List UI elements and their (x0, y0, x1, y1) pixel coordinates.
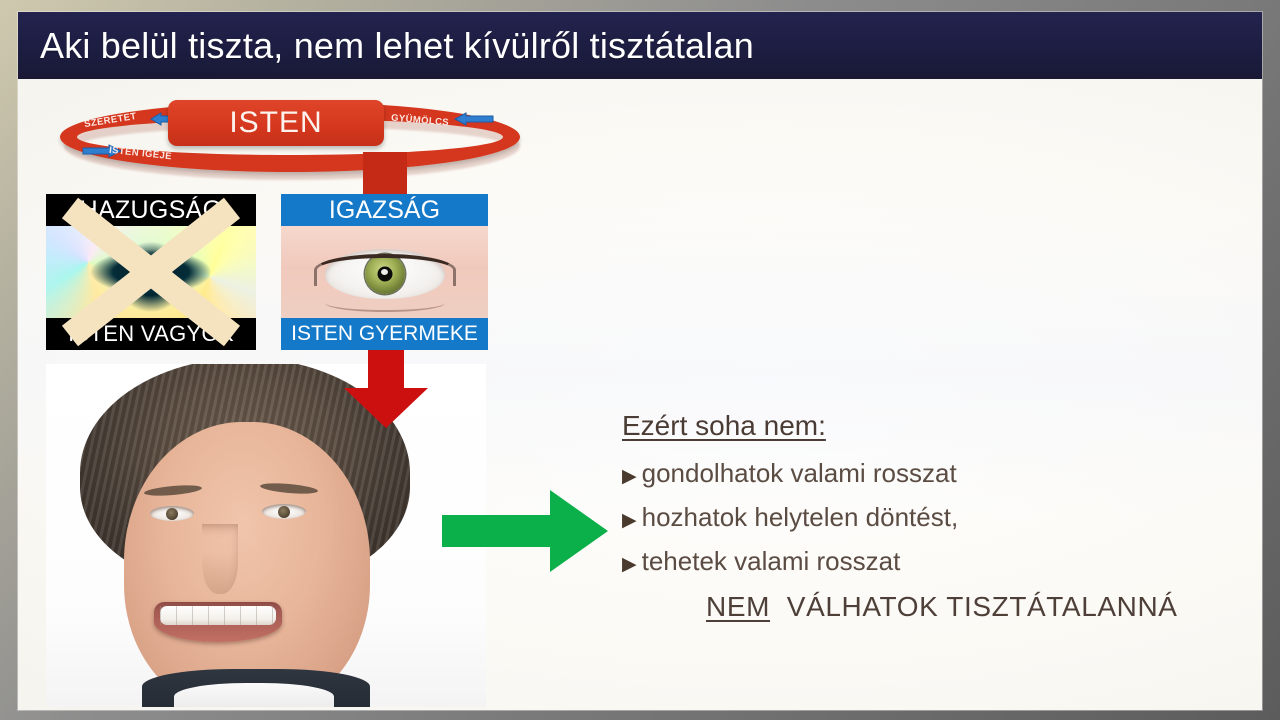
eye-pupil-shape (138, 259, 164, 285)
panel-hazugsag: HAZUGSÁG ISTEN VAGYOK (46, 194, 256, 350)
list-item: ▶ gondolhatok valami rosszat (622, 458, 1242, 489)
red-down-arrow-icon (338, 350, 434, 428)
portrait-teeth (160, 606, 276, 625)
slide-root: SZERETET ISTEN IGÉJE GYÜMÖLCS ISTEN HAZU… (0, 0, 1280, 720)
triangle-bullet-icon: ▶ (622, 467, 637, 486)
portrait-eye-left (150, 506, 194, 521)
green-right-arrow-icon (442, 490, 608, 572)
list-item-label: gondolhatok valami rosszat (642, 458, 957, 489)
panel-igazsag: IGAZSÁG ISTEN GYERMEKE (281, 194, 488, 350)
portrait-nose (202, 524, 238, 594)
conclusion-rest: VÁLHATOK TISZTÁTALANNÁ (787, 591, 1178, 622)
panel-hazugsag-footer: ISTEN VAGYOK (46, 318, 256, 350)
green-eye-image (281, 226, 488, 318)
conclusion-line: NEM VÁLHATOK TISZTÁTALANNÁ (706, 591, 1242, 623)
red-connector-stem (363, 152, 407, 200)
triangle-bullet-icon: ▶ (622, 511, 637, 530)
isten-box-label: ISTEN (229, 106, 322, 140)
list-item: ▶ tehetek valami rosszat (622, 546, 1242, 577)
portrait-shirt (174, 683, 334, 707)
portrait-ear-right (366, 532, 396, 588)
text-block-heading: Ezért soha nem: (622, 410, 1242, 442)
page-title: Aki belül tiszta, nem lehet kívülről tis… (40, 25, 754, 67)
triangle-bullet-icon: ▶ (622, 555, 637, 574)
portrait-mouth (154, 602, 282, 642)
portrait-eye-right (262, 504, 306, 519)
panel-igazsag-footer: ISTEN GYERMEKE (281, 318, 488, 350)
multicolor-eye-image (46, 224, 256, 320)
eye-lower-lid-shape (325, 294, 445, 312)
slide-canvas: SZERETET ISTEN IGÉJE GYÜMÖLCS ISTEN HAZU… (18, 12, 1262, 710)
portrait-face (124, 422, 370, 707)
conclusion-emphasis: NEM (706, 591, 770, 622)
list-item-label: hozhatok helytelen döntést, (642, 502, 959, 533)
portrait-ear-left (108, 534, 138, 590)
list-item: ▶ hozhatok helytelen döntést, (622, 502, 1242, 533)
cycle-diagram: SZERETET ISTEN IGÉJE GYÜMÖLCS ISTEN (46, 96, 516, 186)
text-block: Ezért soha nem: ▶ gondolhatok valami ros… (622, 410, 1242, 623)
list-item-label: tehetek valami rosszat (642, 546, 901, 577)
title-bar: Aki belül tiszta, nem lehet kívülről tis… (18, 12, 1262, 79)
eye-lashes-shape (314, 254, 456, 286)
isten-box: ISTEN (168, 100, 384, 146)
cycle-arrow-right-icon (453, 112, 495, 126)
panel-hazugsag-header: HAZUGSÁG (46, 194, 256, 226)
panel-igazsag-header: IGAZSÁG (281, 194, 488, 226)
